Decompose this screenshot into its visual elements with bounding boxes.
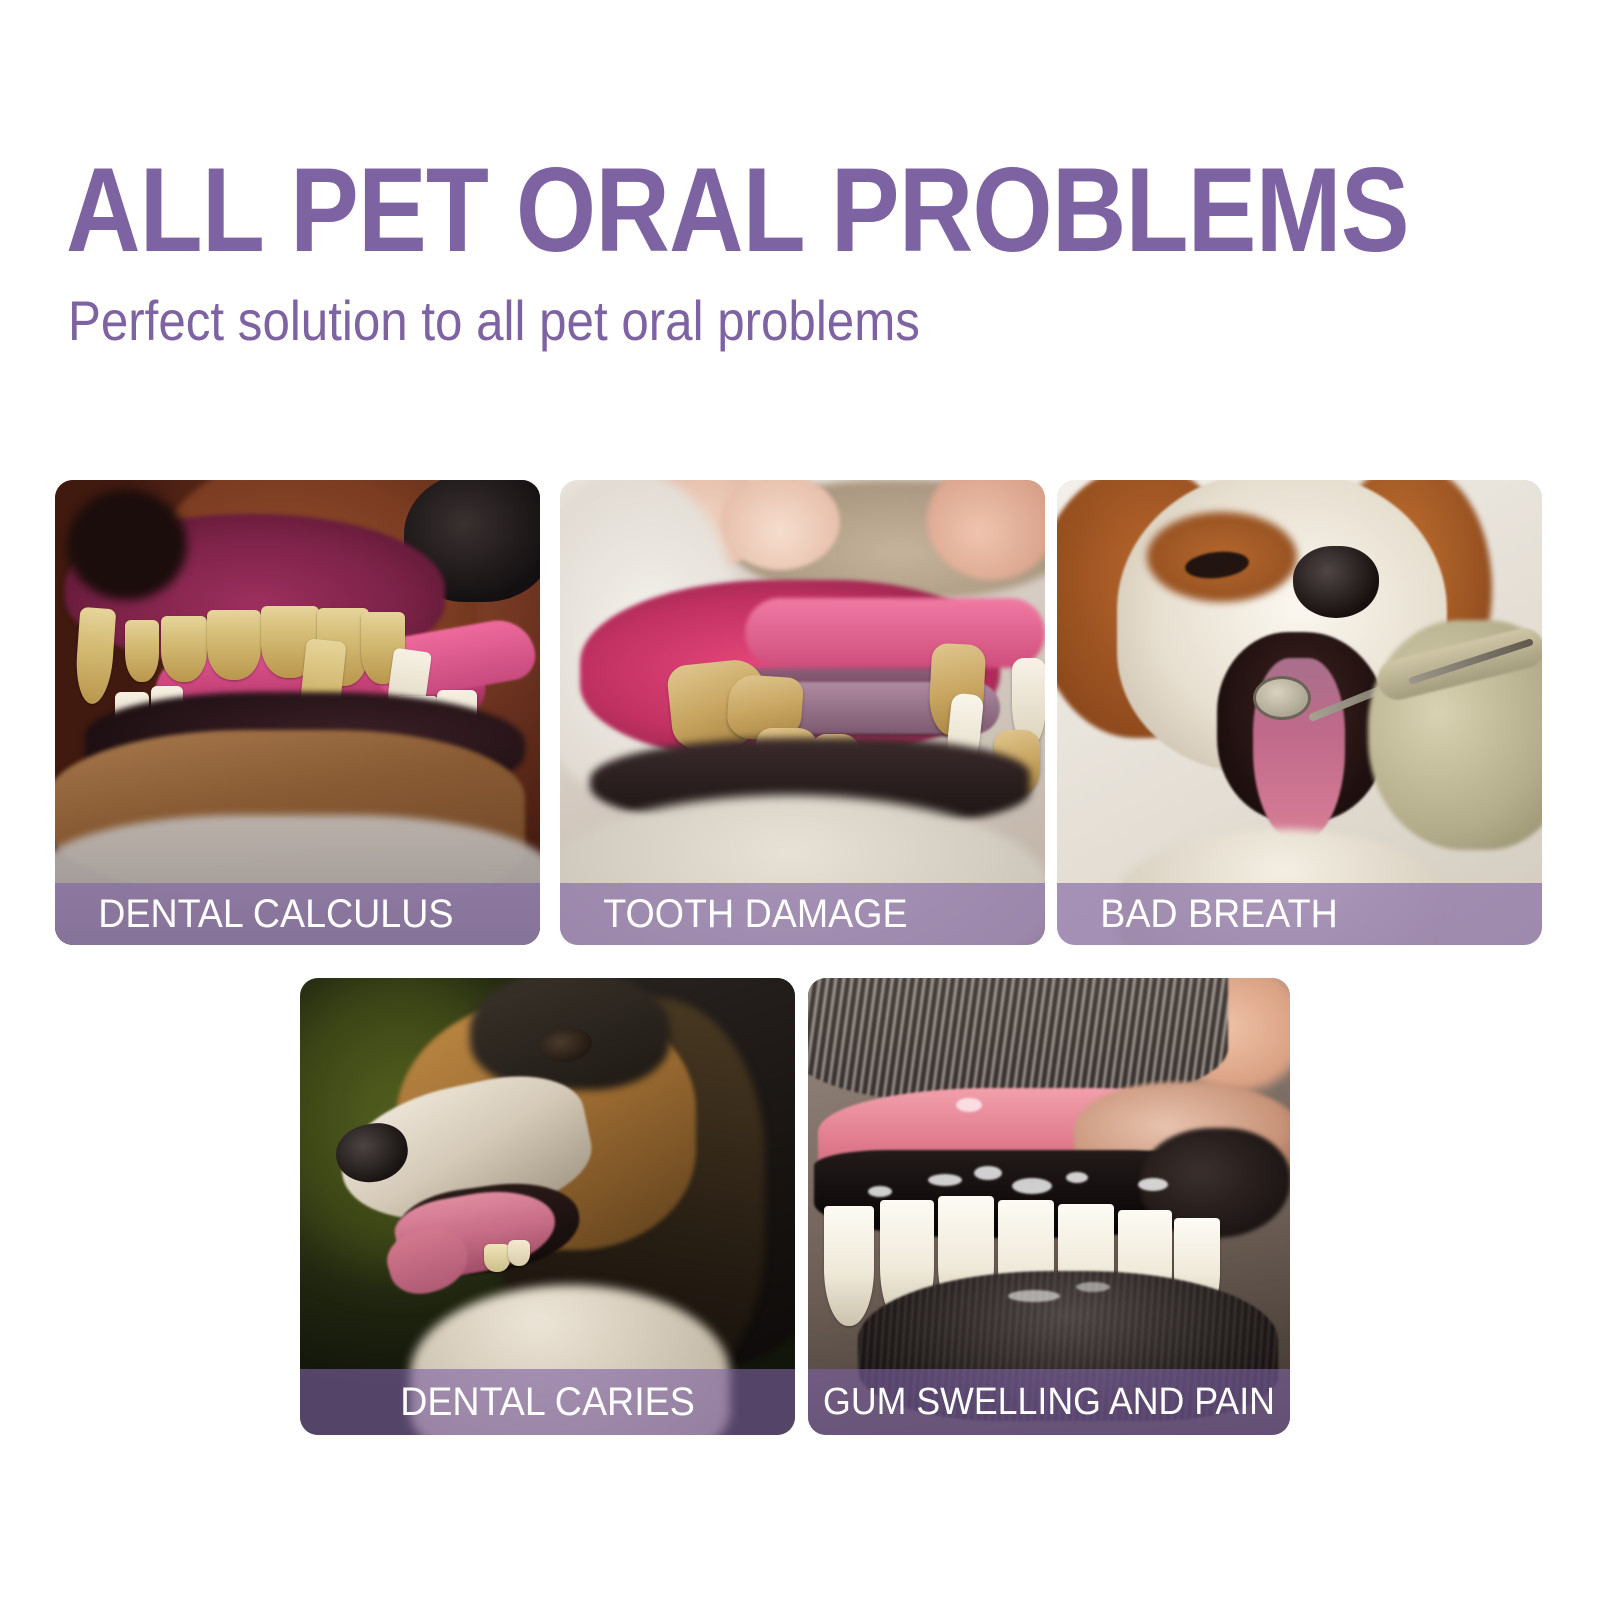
card-caption-tooth-damage: TOOTH DAMAGE (560, 894, 908, 934)
card-caption-band: GUM SWELLING AND PAIN (808, 1369, 1290, 1435)
card-caption-band: DENTAL CARIES (300, 1369, 795, 1435)
photo-bad-breath (1057, 480, 1542, 945)
card-caption-band: TOOTH DAMAGE (560, 883, 1045, 945)
problem-card-bad-breath[interactable]: BAD BREATH (1057, 480, 1542, 945)
card-caption-dental-caries: DENTAL CARIES (315, 1382, 780, 1422)
card-caption-bad-breath: BAD BREATH (1057, 894, 1338, 934)
promo-page: ALL PET ORAL PROBLEMS Perfect solution t… (0, 0, 1600, 1600)
card-caption-band: DENTAL CALCULUS (55, 883, 540, 945)
card-caption-dental-calculus: DENTAL CALCULUS (55, 894, 453, 934)
page-title: ALL PET ORAL PROBLEMS (66, 150, 1184, 270)
page-subtitle: Perfect solution to all pet oral problem… (68, 293, 920, 349)
card-caption-band: BAD BREATH (1057, 883, 1542, 945)
photo-gum-swelling (808, 978, 1290, 1435)
card-caption-gum-swelling: GUM SWELLING AND PAIN (822, 1383, 1275, 1421)
problem-card-gum-swelling[interactable]: GUM SWELLING AND PAIN (808, 978, 1290, 1435)
photo-tooth-damage (560, 480, 1045, 945)
problem-card-dental-caries[interactable]: DENTAL CARIES (300, 978, 795, 1435)
photo-dental-caries (300, 978, 795, 1435)
problem-card-tooth-damage[interactable]: TOOTH DAMAGE (560, 480, 1045, 945)
problem-card-dental-calculus[interactable]: DENTAL CALCULUS (55, 480, 540, 945)
photo-dental-calculus (55, 480, 540, 945)
